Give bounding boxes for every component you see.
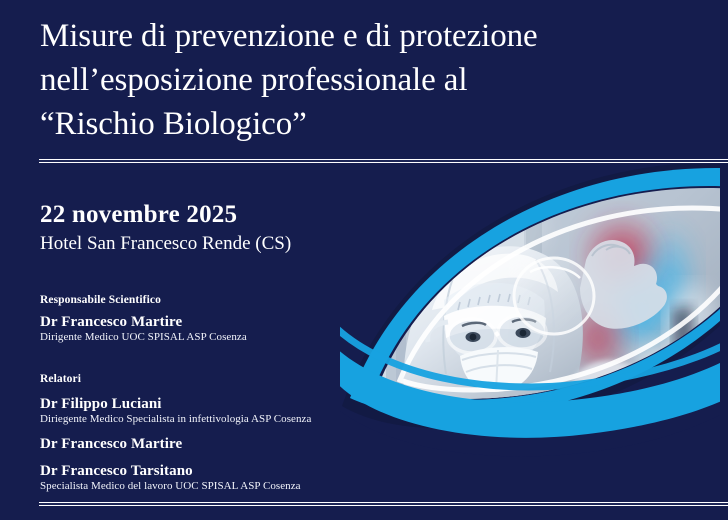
- speaker-name: Dr Francesco Martire: [40, 435, 360, 453]
- event-poster: Misure di prevenzione e di protezione ne…: [0, 0, 728, 520]
- lens-artwork-graphic: [340, 160, 728, 502]
- section-scientific-lead: Responsabile Scientifico Dr Francesco Ma…: [40, 293, 360, 344]
- divider-bottom: [39, 501, 728, 507]
- speaker-item: Dr Francesco Tarsitano Specialista Medic…: [40, 462, 360, 493]
- speaker-name: Dr Francesco Tarsitano: [40, 462, 360, 480]
- title-line-3: “Rischio Biologico”: [40, 102, 660, 146]
- artwork-right-edge-strip: [720, 160, 728, 502]
- event-date: 22 novembre 2025: [40, 200, 360, 230]
- speaker-item: Dr Francesco Martire: [40, 435, 360, 453]
- person-name: Dr Francesco Martire: [40, 313, 360, 331]
- section-label-responsabile-scientifico: Responsabile Scientifico: [40, 293, 360, 307]
- divider-top: [39, 158, 728, 164]
- title-line-1: Misure di prevenzione e di protezione: [40, 14, 660, 58]
- section-speakers: Relatori Dr Filippo Luciani Diriegente M…: [40, 372, 360, 493]
- event-venue: Hotel San Francesco Rende (CS): [40, 231, 360, 257]
- speaker-role: Specialista Medico del lavoro UOC SPISAL…: [40, 480, 360, 493]
- artwork-panel: [340, 160, 728, 502]
- section-label-relatori: Relatori: [40, 372, 360, 386]
- title-line-2: nell’esposizione professionale al: [40, 58, 660, 102]
- person-scientific-lead: Dr Francesco Martire Dirigente Medico UO…: [40, 313, 360, 344]
- speaker-item: Dr Filippo Luciani Diriegente Medico Spe…: [40, 395, 360, 426]
- poster-info-column: 22 novembre 2025 Hotel San Francesco Ren…: [40, 200, 360, 493]
- speaker-name: Dr Filippo Luciani: [40, 395, 360, 413]
- speaker-role: Diriegente Medico Specialista in infetti…: [40, 413, 360, 426]
- person-role: Dirigente Medico UOC SPISAL ASP Cosenza: [40, 331, 360, 344]
- poster-title: Misure di prevenzione e di protezione ne…: [40, 14, 660, 146]
